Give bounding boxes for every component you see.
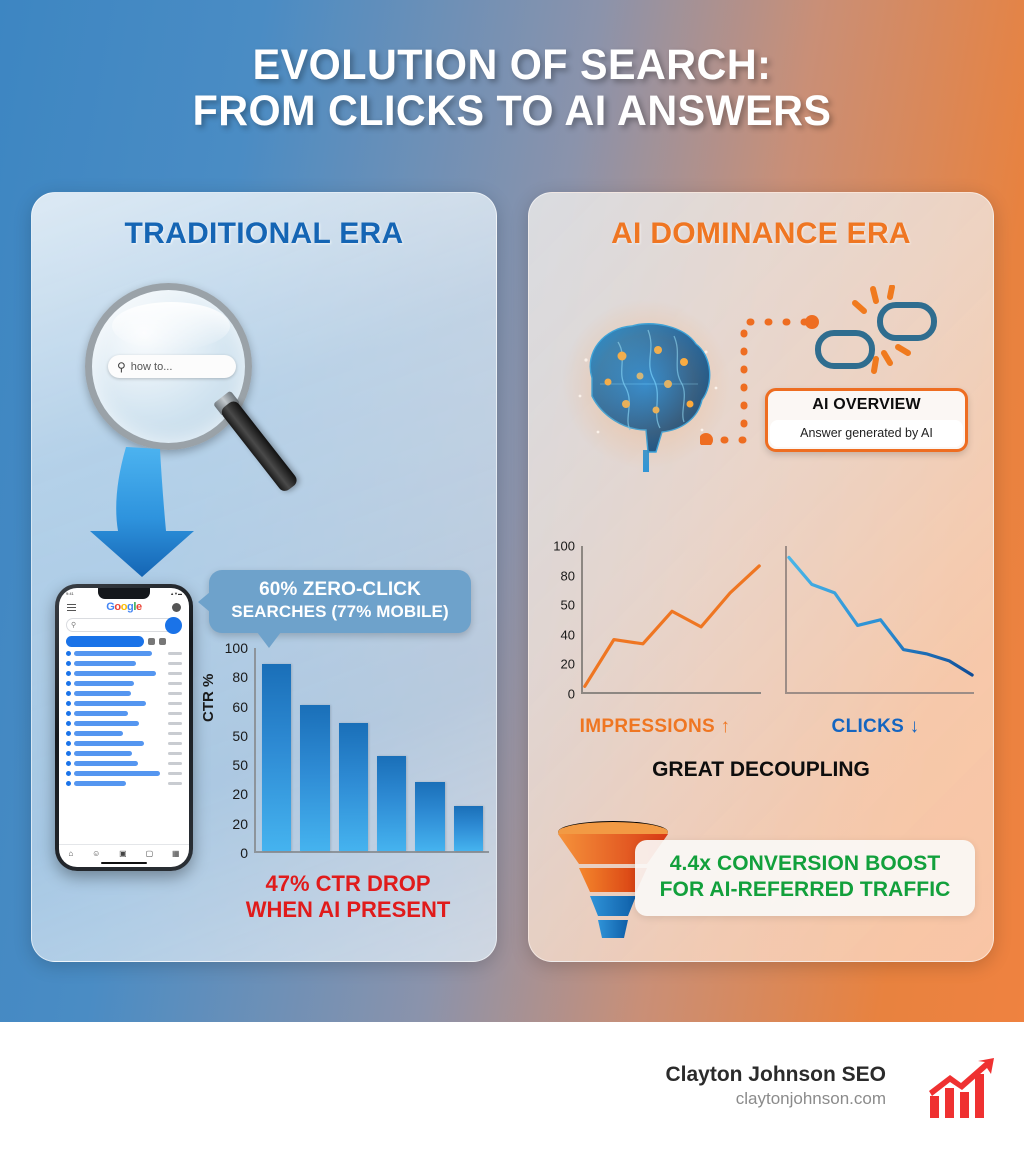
mic-icon[interactable]: [148, 638, 155, 645]
axis-tick-label: 20: [232, 816, 248, 832]
axis-tick-label: 80: [232, 669, 248, 685]
axis-tick-label: 80: [561, 568, 575, 583]
bar: [300, 705, 329, 851]
phone-results-list: [59, 651, 189, 786]
result-bullet: [66, 771, 71, 776]
ctr-y-axis-ticks: 1008060505020200: [214, 648, 248, 853]
result-text-placeholder: [74, 711, 128, 716]
result-bullet: [66, 681, 71, 686]
broken-link-icon: [810, 285, 938, 395]
magnifier-handle: [219, 399, 299, 494]
phone-bottom-nav: ⌂ ☺ ▣ ▢ ▦: [59, 844, 189, 858]
headline-line-2: FROM CLICKS TO AI ANSWERS: [20, 88, 1003, 134]
result-text-placeholder: [74, 781, 126, 786]
phone-signal-icons: ▲▼▬: [170, 591, 182, 596]
phone-time: 9:41: [66, 591, 74, 596]
result-meta: [168, 672, 182, 675]
callout-line-1: 60% ZERO-CLICK: [219, 579, 461, 601]
growth-chart-icon: [928, 1058, 996, 1120]
magnifier-gloss: [112, 302, 230, 350]
callout-line-2: SEARCHES (77% MOBILE): [219, 601, 461, 622]
conversion-boost-card: 4.4x CONVERSION BOOST FOR AI-REFERRED TR…: [635, 840, 975, 916]
result-meta: [168, 772, 182, 775]
infographic-stage: EVOLUTION OF SEARCH: FROM CLICKS TO AI A…: [0, 0, 1024, 1154]
ctr-drop-note: 47% CTR DROP WHEN AI PRESENT: [198, 871, 498, 923]
impressions-plot-area: [581, 546, 761, 694]
impressions-chart: 100805040200 IMPRESSIONS ↑: [545, 540, 765, 715]
list-item[interactable]: [66, 721, 182, 726]
result-text-placeholder: [74, 751, 132, 756]
search-icon: ⚲: [117, 360, 126, 374]
person-icon[interactable]: ☺: [92, 849, 100, 858]
axis-tick-label: 0: [568, 687, 575, 702]
result-meta: [168, 762, 182, 765]
list-item[interactable]: [66, 711, 182, 716]
result-bullet: [66, 761, 71, 766]
axis-tick-label: 60: [232, 699, 248, 715]
bar: [415, 782, 444, 851]
phone-top-bar: Google: [59, 596, 189, 616]
result-bullet: [66, 671, 71, 676]
result-meta: [168, 722, 182, 725]
result-bullet: [66, 731, 71, 736]
avatar[interactable]: [172, 603, 181, 612]
magnifier-search-field: ⚲ how to...: [108, 355, 236, 378]
down-arrow-icon: [78, 443, 208, 581]
list-item[interactable]: [66, 771, 182, 776]
result-text-placeholder: [74, 651, 152, 656]
bar: [377, 756, 406, 851]
result-bullet: [66, 741, 71, 746]
clicks-chart: CLICKS ↓: [773, 540, 978, 715]
axis-tick-label: 100: [553, 539, 575, 554]
result-meta: [168, 712, 182, 715]
brand-url[interactable]: claytonjohnson.com: [665, 1089, 886, 1109]
result-meta: [168, 742, 182, 745]
axis-tick-label: 50: [561, 598, 575, 613]
result-meta: [168, 662, 182, 665]
list-item[interactable]: [66, 661, 182, 666]
phone-screen: 9:41 ▲▼▬ Google ⚲ ⌂ ☺: [59, 588, 189, 867]
result-text-placeholder: [74, 691, 131, 696]
result-text-placeholder: [74, 671, 156, 676]
impressions-y-ticks: 100805040200: [545, 546, 575, 694]
result-bullet: [66, 721, 71, 726]
axis-tick-label: 50: [232, 728, 248, 744]
home-icon[interactable]: ⌂: [68, 849, 73, 858]
result-text-placeholder: [74, 701, 146, 706]
impressions-label: IMPRESSIONS ↑: [545, 716, 765, 738]
list-item[interactable]: [66, 751, 182, 756]
list-item[interactable]: [66, 741, 182, 746]
result-bullet: [66, 651, 71, 656]
gear-icon[interactable]: [159, 638, 166, 645]
axis-tick-label: 40: [561, 627, 575, 642]
apps-icon[interactable]: ▦: [172, 849, 180, 858]
axis-tick-label: 20: [232, 786, 248, 802]
result-text-placeholder: [74, 681, 134, 686]
result-bullet: [66, 751, 71, 756]
result-text-placeholder: [74, 771, 160, 776]
zero-click-callout: 60% ZERO-CLICK SEARCHES (77% MOBILE): [209, 570, 471, 633]
phone-filter-chips: [59, 636, 189, 651]
search-icon: ⚲: [71, 621, 76, 629]
result-bullet: [66, 701, 71, 706]
list-item[interactable]: [66, 781, 182, 786]
axis-tick-label: 100: [225, 640, 248, 656]
result-meta: [168, 682, 182, 685]
ctr-plot-area: [254, 648, 489, 853]
phone-mockup: 9:41 ▲▼▬ Google ⚲ ⌂ ☺: [55, 584, 193, 871]
ai-overview-header: AI OVERVIEW: [768, 391, 965, 420]
list-item[interactable]: [66, 681, 182, 686]
axis-tick-label: 20: [561, 657, 575, 672]
result-text-placeholder: [74, 661, 136, 666]
search-placeholder-text: how to...: [131, 361, 173, 373]
result-text-placeholder: [74, 731, 123, 736]
hamburger-icon[interactable]: [67, 604, 76, 611]
bar: [454, 806, 483, 851]
great-decoupling-charts: 100805040200 IMPRESSIONS ↑ CLICKS ↓: [528, 540, 994, 750]
list-item[interactable]: [66, 701, 182, 706]
ai-overview-card: AI OVERVIEW Answer generated by AI: [765, 388, 968, 452]
result-text-placeholder: [74, 741, 144, 746]
list-item[interactable]: [66, 731, 182, 736]
page-title: EVOLUTION OF SEARCH: FROM CLICKS TO AI A…: [20, 42, 1003, 134]
footer-brand: Clayton Johnson SEO claytonjohnson.com: [665, 1063, 886, 1109]
bar: [339, 723, 368, 851]
phone-notch: [98, 588, 150, 599]
result-bullet: [66, 691, 71, 696]
search-submit-button[interactable]: [165, 617, 182, 634]
great-decoupling-title: GREAT DECOUPLING: [528, 758, 994, 782]
home-indicator: [101, 862, 147, 864]
result-bullet: [66, 781, 71, 786]
list-item[interactable]: [66, 671, 182, 676]
google-logo: Google: [106, 601, 142, 613]
ctr-bar-chart: CTR % 1008060505020200: [204, 648, 489, 866]
clicks-plot-area: [785, 546, 974, 694]
result-meta: [168, 752, 182, 755]
result-text-placeholder: [74, 721, 139, 726]
brand-name: Clayton Johnson SEO: [665, 1063, 886, 1087]
result-meta: [168, 702, 182, 705]
headline-line-1: EVOLUTION OF SEARCH:: [20, 42, 1003, 88]
result-bullet: [66, 711, 71, 716]
axis-tick-label: 0: [240, 845, 248, 861]
clicks-label: CLICKS ↓: [773, 716, 978, 738]
phone-search-input[interactable]: ⚲: [66, 618, 182, 632]
ctr-note-line-2: WHEN AI PRESENT: [198, 897, 498, 923]
list-item[interactable]: [66, 761, 182, 766]
result-meta: [168, 692, 182, 695]
bar: [262, 664, 291, 851]
result-meta: [168, 732, 182, 735]
result-meta: [168, 652, 182, 655]
conversion-line-2: FOR AI-REFERRED TRAFFIC: [649, 877, 961, 903]
ctr-bars: [262, 648, 483, 851]
chat-icon[interactable]: ▢: [146, 849, 154, 858]
ctr-note-line-1: 47% CTR DROP: [198, 871, 498, 897]
result-bullet: [66, 661, 71, 666]
list-item[interactable]: [66, 651, 182, 656]
axis-tick-label: 50: [232, 757, 248, 773]
ai-dominance-era-title: AI DOMINANCE ERA: [529, 217, 993, 251]
result-meta: [168, 782, 182, 785]
active-filter-chip[interactable]: [66, 636, 144, 647]
conversion-line-1: 4.4x CONVERSION BOOST: [649, 851, 961, 877]
result-text-placeholder: [74, 761, 138, 766]
magnifier-lens: ⚲ how to...: [85, 283, 252, 450]
line-series: [789, 557, 972, 675]
ai-overview-subtext: Answer generated by AI: [770, 420, 963, 447]
bookmark-icon[interactable]: ▣: [119, 849, 127, 858]
line-series: [585, 566, 759, 686]
traditional-era-title: TRADITIONAL ERA: [32, 217, 496, 251]
list-item[interactable]: [66, 691, 182, 696]
